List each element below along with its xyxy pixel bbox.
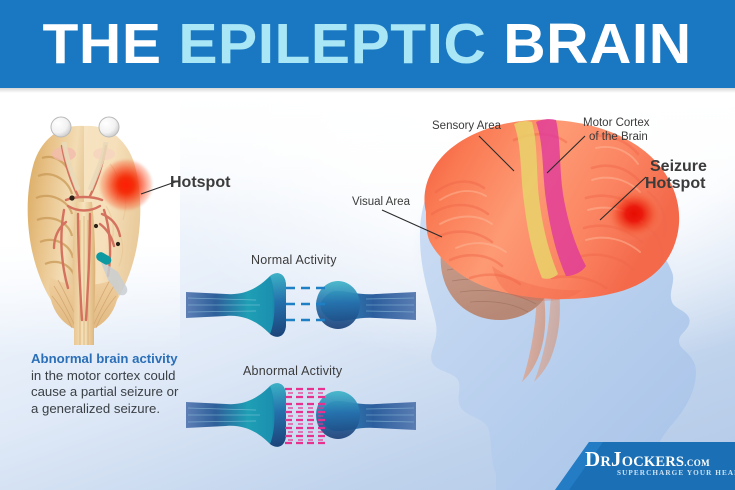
- logo-jockers-rest: OCKERS: [622, 454, 684, 470]
- logo-tagline: SUPERCHARGE YOUR HEALTH: [617, 469, 735, 477]
- title-segment-the: THE: [43, 12, 179, 76]
- seizure-hotspot-label-line2: Hotspot: [645, 175, 705, 193]
- abnormal-signal-lines-secondary: [288, 393, 324, 440]
- header-banner: THE EPILEPTIC BRAIN: [0, 0, 735, 88]
- logo-dr-d: D: [585, 447, 600, 471]
- abnormal-activity-title: Abnormal Activity: [243, 364, 342, 378]
- normal-activity-title: Normal Activity: [251, 253, 337, 267]
- inferior-brain-svg: [14, 110, 164, 345]
- logo-jockers-j: J: [611, 447, 622, 471]
- brand-logo[interactable]: DRJOCKERS.COM SUPERCHARGE YOUR HEALTH: [555, 438, 735, 490]
- body-copy: Abnormal brain activity in the motor cor…: [31, 351, 181, 417]
- infographic-poster: THE EPILEPTIC BRAIN: [0, 0, 735, 490]
- page-title: THE EPILEPTIC BRAIN: [43, 16, 692, 73]
- artery-node-2: [94, 224, 98, 228]
- logo-domain: .COM: [684, 458, 710, 468]
- inferior-brain-illustration: [14, 110, 164, 345]
- eyeball-left: [51, 117, 71, 137]
- motor-cortex-label-line2: of the Brain: [589, 131, 648, 145]
- motor-cortex-leader-line: [545, 135, 587, 175]
- visual-area-leader-line: [380, 208, 446, 240]
- eyeball-right: [99, 117, 119, 137]
- header-drop-shadow: [0, 88, 735, 93]
- seizure-hotspot-leader-line: [598, 176, 648, 222]
- normal-activity-synapse: [186, 272, 416, 338]
- body-copy-rest: in the motor cortex could cause a partia…: [31, 368, 178, 416]
- seizure-hotspot-label-line1: Seizure: [650, 158, 707, 176]
- title-segment-brain: BRAIN: [487, 12, 692, 76]
- abnormal-activity-synapse: [186, 382, 416, 448]
- motor-cortex-label-line1: Motor Cortex: [583, 117, 649, 131]
- logo-dr-r: R: [600, 454, 611, 470]
- hotspot-label: Hotspot: [170, 174, 230, 192]
- sensory-area-leader-line: [478, 135, 516, 173]
- artery-node-1: [69, 195, 74, 200]
- artery-node-3: [116, 242, 120, 246]
- sensory-area-label: Sensory Area: [432, 120, 501, 134]
- body-copy-highlight: Abnormal brain activity: [31, 351, 178, 366]
- title-segment-epileptic: EPILEPTIC: [179, 12, 487, 76]
